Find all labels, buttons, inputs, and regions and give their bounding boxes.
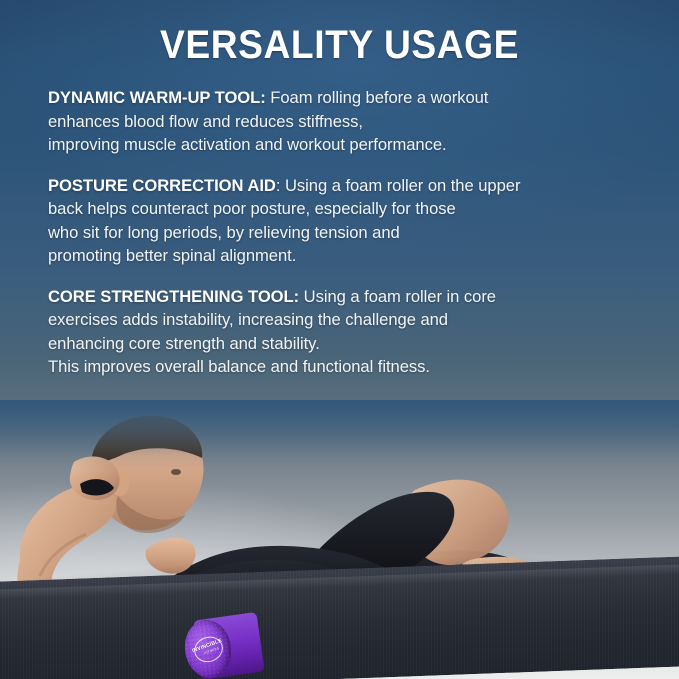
benefit-lead: POSTURE CORRECTION AID	[48, 176, 276, 195]
benefit-line: improving muscle activation and workout …	[48, 133, 648, 157]
benefit-line: POSTURE CORRECTION AID: Using a foam rol…	[48, 174, 648, 198]
benefit-core-strengthening-tool: CORE STRENGTHENING TOOL: Using a foam ro…	[48, 285, 648, 379]
benefit-text: Foam rolling before a workout	[266, 88, 489, 107]
benefit-lead: DYNAMIC WARM-UP TOOL:	[48, 88, 266, 107]
benefit-posture-correction-aid: POSTURE CORRECTION AID: Using a foam rol…	[48, 174, 648, 268]
benefit-line: enhancing core strength and stability.	[48, 332, 648, 356]
benefit-line: who sit for long periods, by relieving t…	[48, 221, 648, 245]
benefit-text: : Using a foam roller on the upper	[276, 176, 521, 195]
benefit-line: back helps counteract poor posture, espe…	[48, 197, 648, 221]
lifestyle-photo	[0, 400, 679, 679]
benefit-text: Using a foam roller in core	[299, 287, 496, 306]
benefit-lead: CORE STRENGTHENING TOOL:	[48, 287, 299, 306]
benefit-line: This improves overall balance and functi…	[48, 355, 648, 379]
benefit-list: DYNAMIC WARM-UP TOOL: Foam rolling befor…	[48, 86, 648, 396]
benefit-line: enhances blood flow and reduces stiffnes…	[48, 110, 648, 134]
brand-logo: INVINCIBLE FITNESS	[191, 634, 224, 664]
foam-roller: INVINCIBLE FITNESS	[179, 612, 265, 679]
benefit-line: CORE STRENGTHENING TOOL: Using a foam ro…	[48, 285, 648, 309]
text-layer: VERSALITY USAGE DYNAMIC WARM-UP TOOL: Fo…	[0, 0, 679, 440]
benefit-line: promoting better spinal alignment.	[48, 244, 648, 268]
versality-usage-infographic: INVINCIBLE FITNESS VERSALITY USAGE DYNAM…	[0, 0, 679, 679]
benefit-line: exercises adds instability, increasing t…	[48, 308, 648, 332]
page-title: VERSALITY USAGE	[24, 23, 655, 68]
benefit-line: DYNAMIC WARM-UP TOOL: Foam rolling befor…	[48, 86, 648, 110]
benefit-dynamic-warm-up-tool: DYNAMIC WARM-UP TOOL: Foam rolling befor…	[48, 86, 648, 157]
